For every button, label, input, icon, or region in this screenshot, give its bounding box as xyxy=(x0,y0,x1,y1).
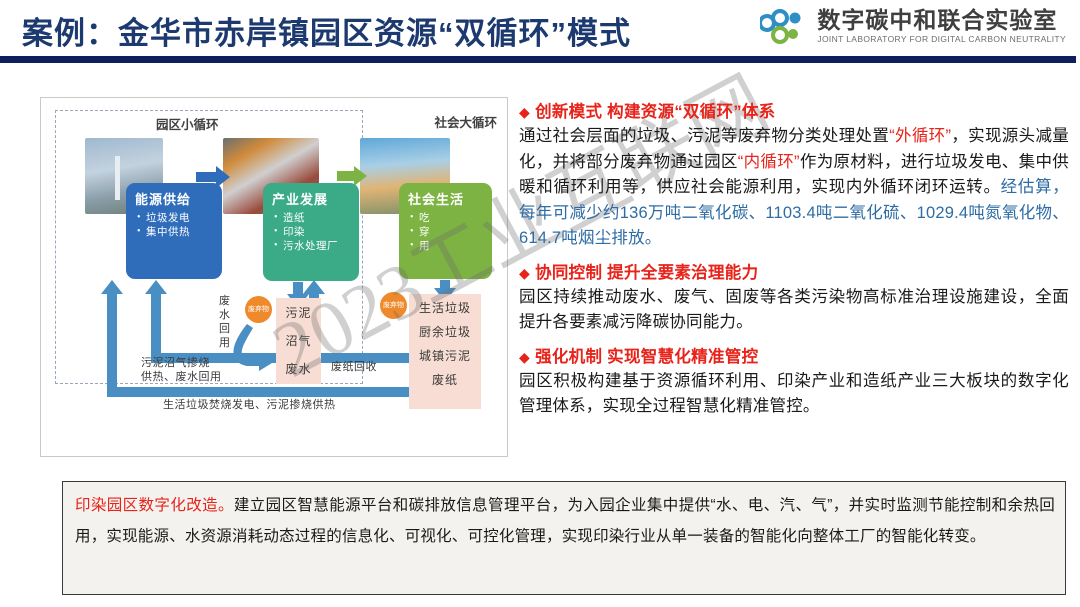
badge-waste-mid: 废弃物 xyxy=(245,296,272,323)
logo-english-name: JOINT LABORATORY FOR DIGITAL CARBON NEUT… xyxy=(817,34,1066,44)
label-sludge-biogas: 污泥沼气掺烧供热、废水回用 xyxy=(141,356,222,384)
section-heading-rest: 构建资源“双循环”体系 xyxy=(607,103,775,121)
lab-logo: 数字碳中和联合实验室 JOINT LABORATORY FOR DIGITAL … xyxy=(760,6,1066,46)
diamond-bullet-icon: ◆ xyxy=(519,349,530,365)
pink-right-item: 厨余垃圾 xyxy=(409,323,481,340)
diamond-bullet-icon: ◆ xyxy=(519,104,530,120)
header-divider-gap xyxy=(0,63,1080,66)
section-heading: ◆创新模式 构建资源“双循环”体系 xyxy=(519,100,1069,124)
header-divider xyxy=(0,56,1080,63)
right-edge-strip xyxy=(1076,0,1080,607)
section-heading: ◆强化机制 实现智慧化精准管控 xyxy=(519,345,1069,369)
badge-waste-right: 废弃物 xyxy=(380,292,407,319)
diamond-bullet-icon: ◆ xyxy=(519,265,530,281)
section-body: 通过社会层面的垃圾、污泥等废弃物分类处理处置“外循环”，实现源头减量化，并将部分… xyxy=(519,124,1069,252)
label-waste-water-reuse: 废水回用 xyxy=(219,294,233,350)
pink-right-item: 生活垃圾 xyxy=(409,299,481,316)
pink-mid-item: 沼气 xyxy=(276,332,321,349)
pink-box-industry-waste: 污泥 沼气 废水 xyxy=(276,298,321,384)
bottom-callout-box: 印染园区数字化改造。建立园区智慧能源平台和碳排放信息管理平台，为入园企业集中提供… xyxy=(62,481,1066,595)
section-body: 园区积极构建基于资源循环利用、印染产业和造纸产业三大板块的数字化管理体系，实现全… xyxy=(519,369,1069,420)
pink-right-item: 废纸 xyxy=(409,371,481,388)
page-header: 案例：金华市赤岸镇园区资源“双循环”模式 数字碳中和联合实验室 JOINT LA… xyxy=(0,0,1080,58)
section-body: 园区持续推动废水、废气、固废等各类污染物高标准治理设施建设，全面提升各要素减污降… xyxy=(519,285,1069,336)
pink-mid-item: 废水 xyxy=(276,360,321,377)
pink-right-item: 城镇污泥 xyxy=(409,347,481,364)
dual-circulation-diagram: 园区小循环 社会大循环 能源供给 垃圾发电 集中供热 产业发展 造纸 印染 污水… xyxy=(40,97,508,457)
pink-box-social-waste: 生活垃圾 厨余垃圾 城镇污泥 废纸 xyxy=(409,294,481,409)
section-heading-rest: 实现智慧化精准管控 xyxy=(607,348,758,366)
logo-chinese-name: 数字碳中和联合实验室 xyxy=(817,8,1066,32)
section-heading-key: 强化机制 xyxy=(535,348,602,366)
section-innovation-model: ◆创新模式 构建资源“双循环”体系 通过社会层面的垃圾、污泥等废弃物分类处理处置… xyxy=(519,100,1069,252)
bottom-callout-text: 印染园区数字化改造。建立园区智慧能源平台和碳排放信息管理平台，为入园企业集中提供… xyxy=(75,490,1055,552)
bottom-callout-lead: 印染园区数字化改造。 xyxy=(75,497,234,514)
section-heading-rest: 提升全要素治理能力 xyxy=(607,264,758,282)
content-sections: ◆创新模式 构建资源“双循环”体系 通过社会层面的垃圾、污泥等废弃物分类处理处置… xyxy=(519,100,1069,429)
section-coordinated-control: ◆协同控制 提升全要素治理能力 园区持续推动废水、废气、固废等各类污染物高标准治… xyxy=(519,261,1069,336)
label-paper-recycle: 废纸回收 xyxy=(331,360,377,374)
logo-mark-icon xyxy=(760,6,808,46)
section-heading-key: 协同控制 xyxy=(535,264,602,282)
section-strengthen-mechanism: ◆强化机制 实现智慧化精准管控 园区积极构建基于资源循环利用、印染产业和造纸产业… xyxy=(519,345,1069,420)
label-msw-incineration: 生活垃圾焚烧发电、污泥掺烧供热 xyxy=(163,398,336,412)
section-heading: ◆协同控制 提升全要素治理能力 xyxy=(519,261,1069,285)
section-heading-key: 创新模式 xyxy=(535,103,602,121)
page-title: 案例：金华市赤岸镇园区资源“双循环”模式 xyxy=(22,8,631,53)
pink-mid-item: 污泥 xyxy=(276,304,321,321)
